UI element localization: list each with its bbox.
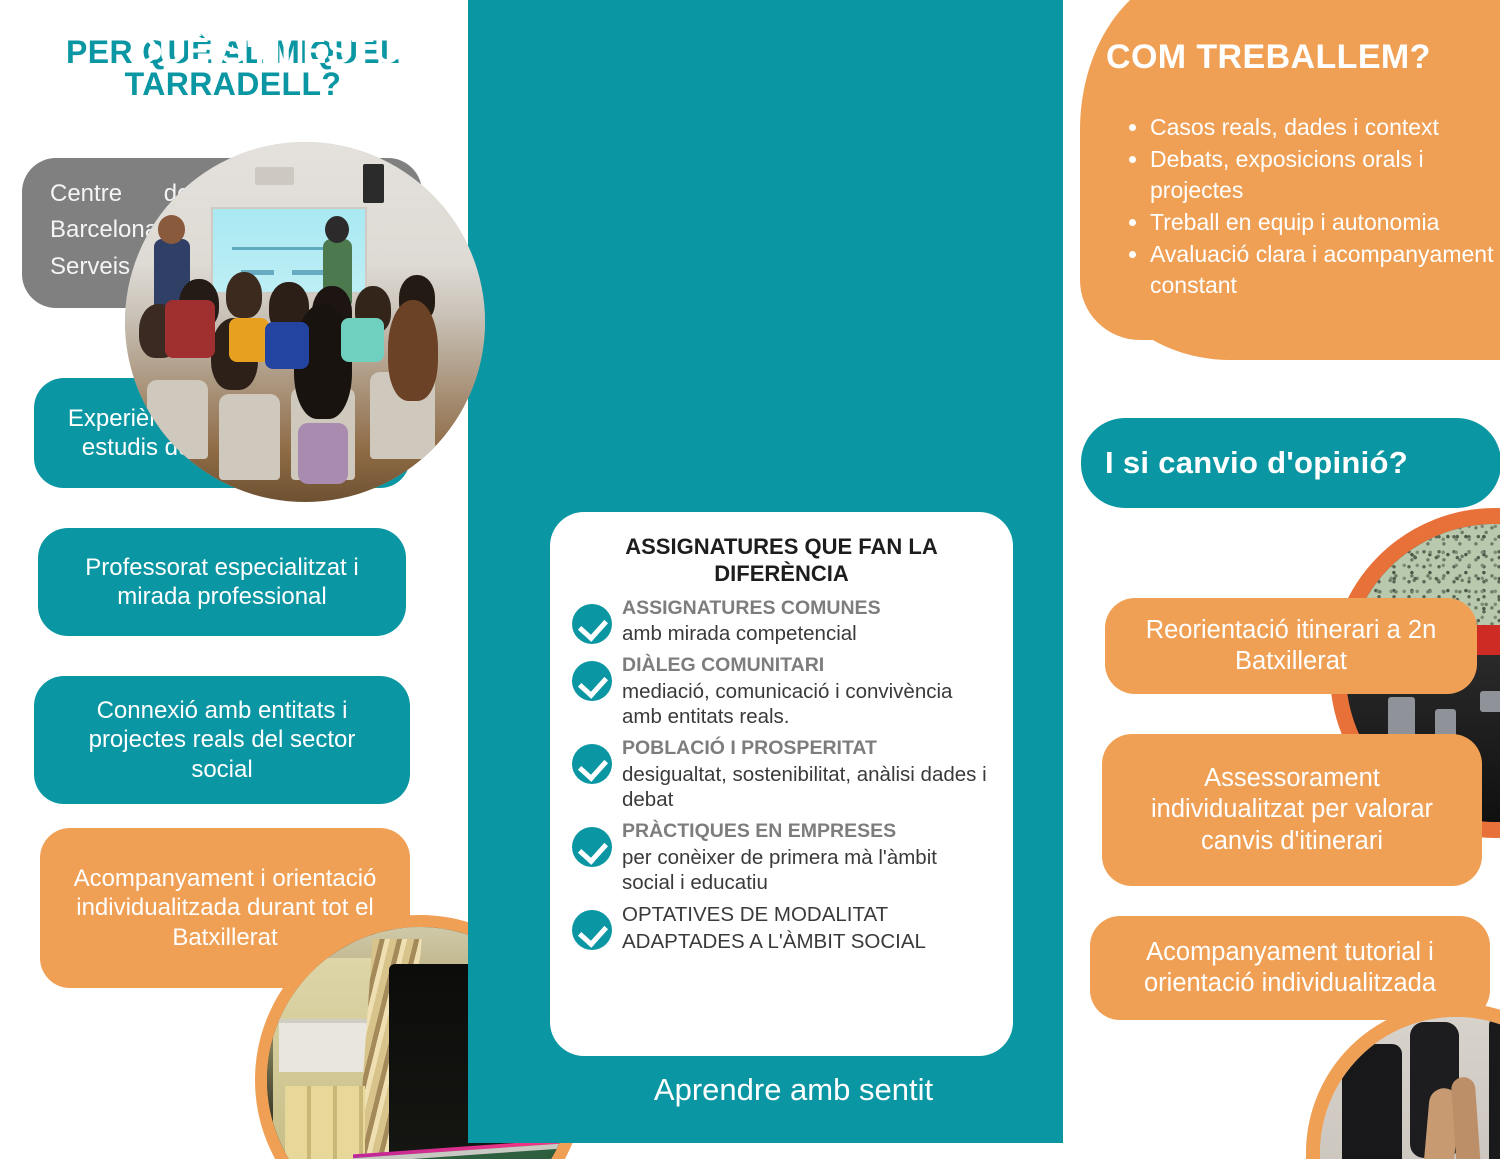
check-circle-icon [572,661,612,701]
photo-layer-student-shirt [341,318,384,361]
subject-heading: DIÀLEG COMUNITARI [622,653,992,678]
subject-text: POBLACIÓ I PROSPERITAT desigualtat, sost… [622,736,992,813]
subjects-list: ASSIGNATURES COMUNES amb mirada competen… [572,596,992,961]
left-pill-3: Connexió amb entitats i projectes reals … [34,676,410,804]
subjects-card-title: ASSIGNATURES QUE FAN LA DIFERÈNCIA [574,534,989,588]
left-pill-2: Professorat especialitzat i mirada profe… [38,528,406,636]
photo-layer-student-shirt [265,322,308,369]
photo-layer-student-head [226,272,262,319]
subjects-card: ASSIGNATURES QUE FAN LA DIFERÈNCIA ASSIG… [550,512,1013,1056]
photo-layer-doors [285,1086,365,1159]
photo-layer-person-legs [1342,1044,1402,1159]
photo-layer-tool [1480,691,1500,712]
subject-body: desigualtat, sostenibilitat, anàlisi dad… [622,762,992,814]
subject-heading: POBLACIÓ I PROSPERITAT [622,736,992,761]
subject-item: POBLACIÓ I PROSPERITAT desigualtat, sost… [572,736,992,813]
classroom-presentation-photo [125,142,485,502]
check-circle-icon [572,744,612,784]
right-pill-2: Assessorament individualitzat per valora… [1102,734,1482,886]
center-column-title: QUÈ S'HI ESTUDIA [0,30,595,72]
photo-layer-seat [147,380,208,459]
right-bullet-item: Casos reals, dades i context [1150,112,1494,142]
subject-heading: ASSIGNATURES COMUNES [622,596,992,621]
photo-layer-backpack [298,423,348,484]
brochure-canvas: PER QUÈ AL MIQUEL TARRADELL? Centre de r… [0,0,1500,1159]
subject-heading: OPTATIVES DE MODALITAT ADAPTADES A L'ÀMB… [622,902,992,955]
right-bullet-item: Debats, exposicions orals i projectes [1150,144,1494,205]
subject-heading: PRÀCTIQUES EN EMPRESES [622,819,992,844]
subject-text: DIÀLEG COMUNITARI mediació, comunicació … [622,653,992,730]
subject-item: OPTATIVES DE MODALITAT ADAPTADES A L'ÀMB… [572,902,992,955]
right-pill-1: Reorientació itinerari a 2n Batxillerat [1105,598,1477,694]
photo-layer-speaker [363,164,385,204]
opinion-banner: I si canvio d'opinió? [1081,418,1500,508]
subject-body: mediació, comunicació i convivència amb … [622,679,992,731]
right-bullet-list: Casos reals, dades i context Debats, exp… [1124,112,1494,302]
cpr-training-photo [1306,1003,1500,1159]
photo-layer-student-head [388,300,438,401]
check-circle-icon [572,910,612,950]
subject-item: DIÀLEG COMUNITARI mediació, comunicació … [572,653,992,730]
subject-body: per conèixer de primera mà l'àmbit socia… [622,845,992,897]
check-circle-icon [572,604,612,644]
photo-layer-projector [255,167,295,185]
right-column-title: COM TREBALLEM? [1106,38,1500,77]
subject-item: ASSIGNATURES COMUNES amb mirada competen… [572,596,992,647]
photo-layer-person-legs [1489,1012,1500,1159]
photo-layer-seat [219,394,280,480]
subject-item: PRÀCTIQUES EN EMPRESES per conèixer de p… [572,819,992,896]
check-circle-icon [572,827,612,867]
photo-layer-student-shirt [165,300,215,358]
subject-text: ASSIGNATURES COMUNES amb mirada competen… [622,596,992,647]
subject-text: PRÀCTIQUES EN EMPRESES per conèixer de p… [622,819,992,896]
photo-layer-slide-line-1 [232,247,332,250]
photo-layer-student-shirt [229,318,269,361]
right-bullet-item: Treball en equip i autonomia [1150,207,1494,237]
right-bullet-item: Avaluació clara i acompanyament constant [1150,239,1494,300]
subject-body: amb mirada competencial [622,621,992,647]
center-tagline: Aprendre amb sentit [468,1072,1063,1108]
opinion-banner-label: I si canvio d'opinió? [1081,445,1408,481]
subject-text: OPTATIVES DE MODALITAT ADAPTADES A L'ÀMB… [622,902,992,955]
